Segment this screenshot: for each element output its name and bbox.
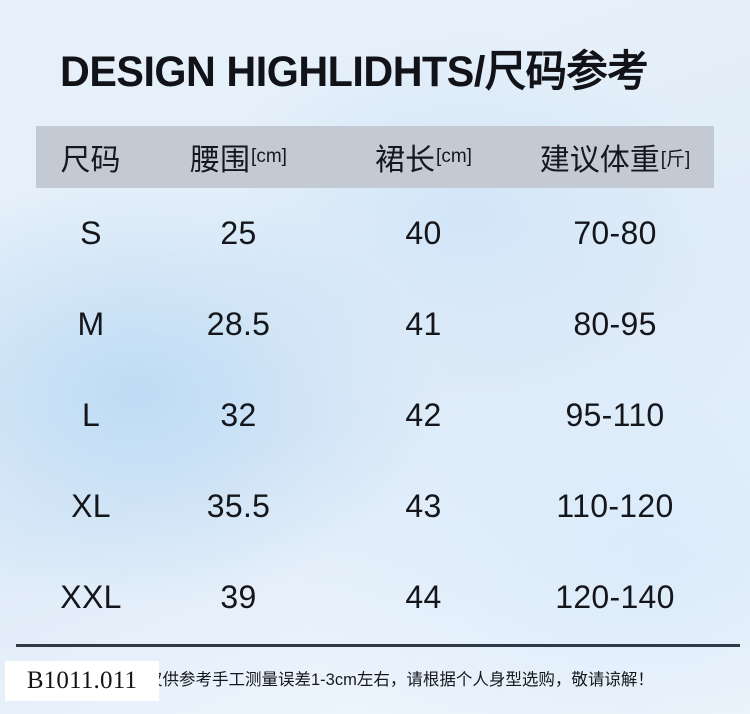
column-header-length: 裙长 [cm] bbox=[331, 135, 516, 179]
cell-waist: 25 bbox=[146, 215, 331, 252]
cell-size: L bbox=[36, 397, 146, 434]
column-header-size: 尺码 bbox=[36, 135, 146, 179]
footer-divider bbox=[16, 644, 740, 647]
cell-length: 44 bbox=[331, 579, 516, 616]
column-header-waist-label: 腰围 bbox=[190, 135, 250, 179]
cell-waist: 28.5 bbox=[146, 306, 331, 343]
cell-length: 41 bbox=[331, 306, 516, 343]
product-code-text: B1011.011 bbox=[27, 667, 137, 695]
product-code-label: B1011.011 bbox=[5, 661, 159, 701]
table-row: XXL 39 44 120-140 bbox=[36, 552, 714, 643]
cell-length: 42 bbox=[331, 397, 516, 434]
cell-waist: 32 bbox=[146, 397, 331, 434]
cell-size: S bbox=[36, 215, 146, 252]
cell-size: XL bbox=[36, 488, 146, 525]
table-row: M 28.5 41 80-95 bbox=[36, 279, 714, 370]
cell-weight: 110-120 bbox=[516, 488, 714, 525]
column-header-waist: 腰围 [cm] bbox=[146, 135, 331, 179]
size-chart-table: 尺码 腰围 [cm] 裙长 [cm] 建议体重 [斤] S 25 40 70-8… bbox=[36, 126, 714, 643]
column-header-size-label: 尺码 bbox=[61, 135, 121, 179]
column-header-weight-label: 建议体重 bbox=[540, 135, 660, 179]
column-header-weight-unit: [斤] bbox=[661, 144, 691, 171]
cell-weight: 70-80 bbox=[516, 215, 714, 252]
measurement-disclaimer: 仅供参考手工测量误差1-3cm左右，请根据个人身型选购，敬请谅解！ bbox=[146, 665, 746, 695]
table-header-row: 尺码 腰围 [cm] 裙长 [cm] 建议体重 [斤] bbox=[36, 126, 714, 188]
column-header-weight: 建议体重 [斤] bbox=[516, 135, 714, 179]
cell-size: XXL bbox=[36, 579, 146, 616]
cell-length: 40 bbox=[331, 215, 516, 252]
cell-size: M bbox=[36, 306, 146, 343]
page-title: DESIGN HIGHLIDHTS/尺码参考 bbox=[60, 47, 648, 97]
table-row: L 32 42 95-110 bbox=[36, 370, 714, 461]
column-header-length-unit: [cm] bbox=[436, 146, 472, 168]
cell-weight: 95-110 bbox=[516, 397, 714, 434]
cell-weight: 80-95 bbox=[516, 306, 714, 343]
cell-waist: 39 bbox=[146, 579, 331, 616]
column-header-waist-unit: [cm] bbox=[251, 146, 287, 168]
column-header-length-label: 裙长 bbox=[375, 135, 435, 179]
table-row: S 25 40 70-80 bbox=[36, 188, 714, 279]
cell-weight: 120-140 bbox=[516, 579, 714, 616]
table-row: XL 35.5 43 110-120 bbox=[36, 461, 714, 552]
cell-length: 43 bbox=[331, 488, 516, 525]
cell-waist: 35.5 bbox=[146, 488, 331, 525]
size-chart-page: DESIGN HIGHLIDHTS/尺码参考 尺码 腰围 [cm] 裙长 [cm… bbox=[0, 0, 750, 714]
